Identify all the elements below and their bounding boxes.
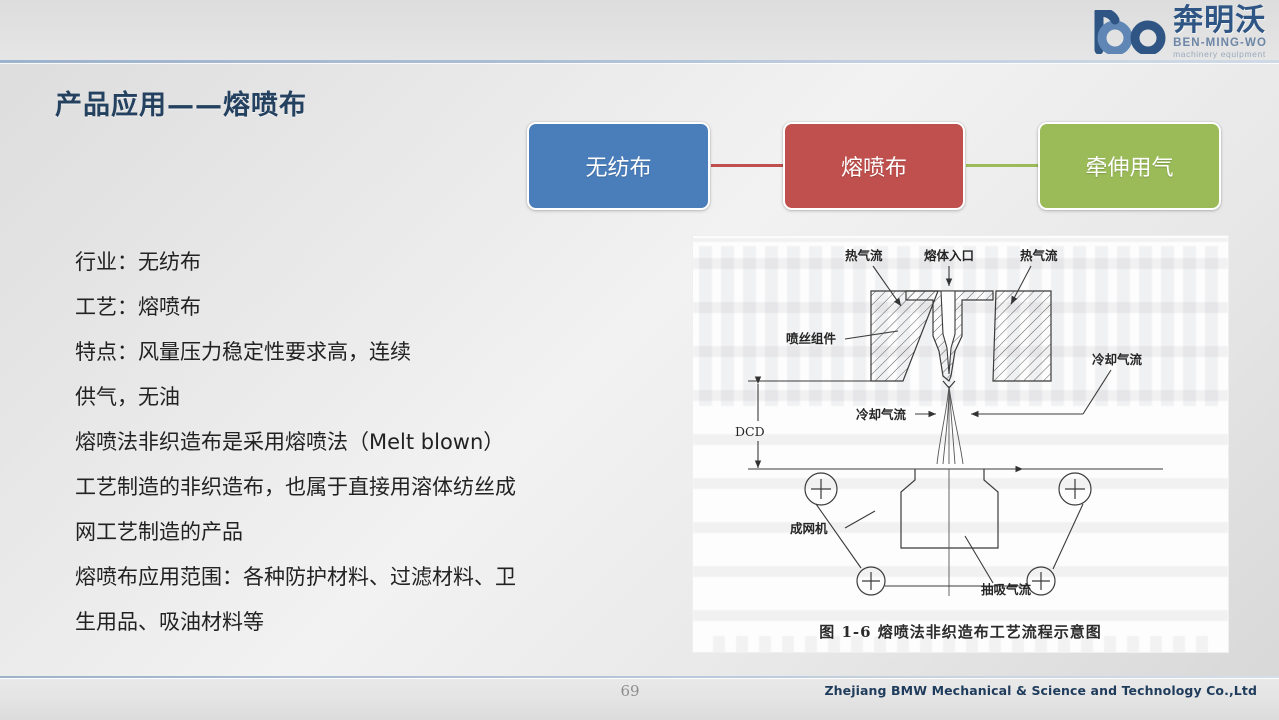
footer-company-name: Zhejiang BMW Mechanical & Science and Te…: [825, 683, 1257, 698]
figure-label-web-former: 成网机: [790, 521, 828, 536]
flow-box-nonwoven[interactable]: 无纺布: [527, 122, 710, 210]
flow-connector-2: [966, 164, 1038, 167]
body-line: 行业：无纺布: [75, 240, 675, 285]
flow-box-draw-air[interactable]: 牵伸用气: [1038, 122, 1221, 210]
flow-box-label: 熔喷布: [841, 150, 907, 182]
flow-box-meltblown[interactable]: 熔喷布: [783, 122, 965, 210]
body-line: 生用品、吸油材料等: [75, 600, 675, 645]
figure-caption: 图 1-6 熔喷法非织造布工艺流程示意图: [693, 621, 1228, 642]
figure-label-cooling-air-right: 冷却气流: [1092, 352, 1143, 367]
body-line: 熔喷布应用范围：各种防护材料、过滤材料、卫: [75, 555, 675, 600]
flow-box-label: 无纺布: [585, 150, 651, 182]
header-divider-highlight: [0, 63, 1279, 64]
flow-box-label: 牵伸用气: [1085, 150, 1173, 182]
meltblown-process-figure: DCD 热气流: [692, 235, 1229, 653]
body-line: 工艺：熔喷布: [75, 285, 675, 330]
body-line: 供气，无油: [75, 375, 675, 420]
body-text-block: 行业：无纺布 工艺：熔喷布 特点：风量压力稳定性要求高，连续 供气，无油 熔喷法…: [75, 240, 675, 645]
figure-label-melt-inlet: 熔体入口: [924, 248, 974, 263]
figure-label-spinneret: 喷丝组件: [786, 331, 837, 346]
bo-monogram-icon: [1093, 10, 1171, 54]
body-line: 工艺制造的非织造布，也属于直接用溶体纺丝成: [75, 465, 675, 510]
figure-label-dcd: DCD: [735, 424, 765, 439]
figure-label-suction-air: 抽吸气流: [981, 582, 1032, 597]
page-number: 69: [600, 682, 660, 700]
page-title: 产品应用——熔喷布: [55, 83, 307, 122]
company-logo: 奔明沃 BEN-MING-WO machinery equipment: [1035, 4, 1267, 60]
figure-label-hot-air-right: 热气流: [1020, 248, 1058, 263]
body-line: 网工艺制造的产品: [75, 510, 675, 555]
logo-chinese-name: 奔明沃: [1173, 6, 1266, 36]
process-schematic-drawing: DCD 热气流: [693, 236, 1229, 653]
logo-english-name: BEN-MING-WO: [1173, 38, 1267, 50]
body-line: 特点：风量压力稳定性要求高，连续: [75, 330, 675, 375]
figure-label-hot-air-left: 热气流: [845, 248, 883, 263]
logo-tagline: machinery equipment: [1173, 50, 1266, 59]
flow-connector-1: [711, 164, 783, 167]
figure-label-cooling-air-center: 冷却气流: [856, 407, 907, 422]
body-line: 熔喷法非织造布是采用熔喷法（Melt blown）: [75, 420, 675, 465]
